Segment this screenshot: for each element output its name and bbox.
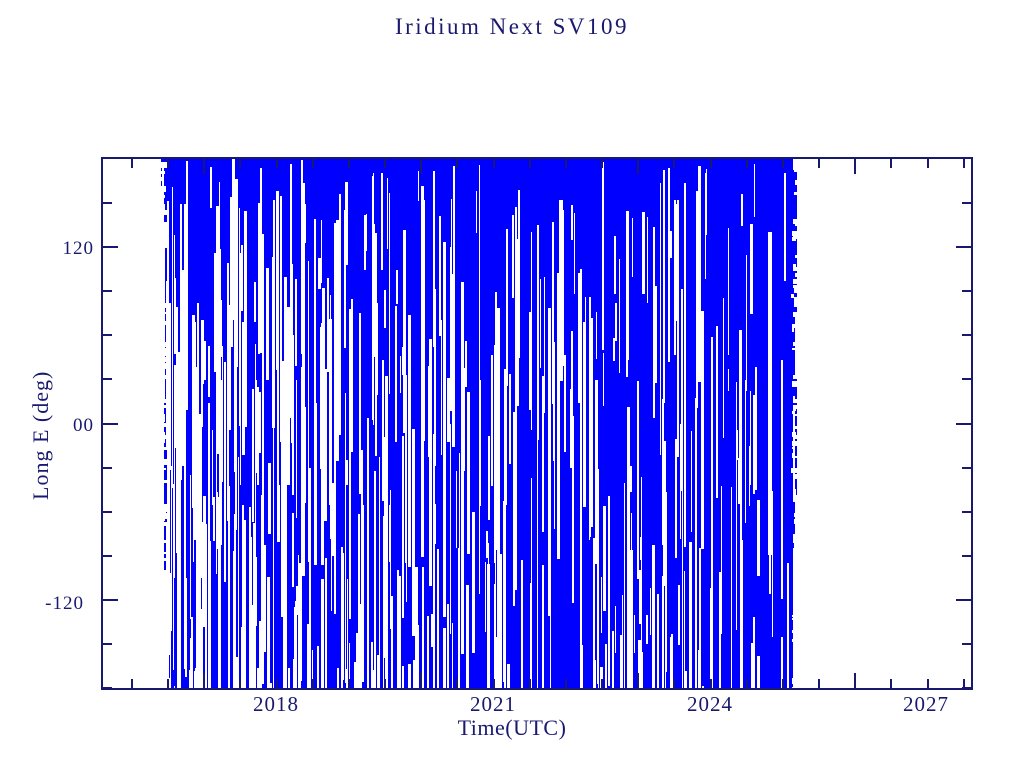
data-edge-notch-left [161, 336, 164, 339]
x-tick-2020 [348, 679, 350, 688]
data-gap-streak [701, 388, 704, 455]
data-edge-notch-left [161, 177, 165, 181]
data-gap-streak [542, 565, 543, 688]
data-edge-notch [794, 168, 798, 172]
y-tick-right-90 [962, 290, 971, 292]
chart-title: Iridium Next SV109 [0, 14, 1024, 40]
data-gap-streak [795, 315, 797, 376]
data-gap-streak [284, 602, 285, 682]
data-edge-notch-left [161, 678, 162, 683]
data-gap-streak [235, 179, 238, 367]
data-gap-streak [479, 380, 481, 506]
data-gap-streak [443, 628, 446, 688]
data-gap-streak [396, 270, 398, 304]
y-tick-right--30 [962, 467, 971, 469]
data-gap-streak [557, 273, 560, 508]
data-edge-notch-left [161, 225, 167, 227]
data-gap-streak [236, 657, 238, 688]
data-edge-notch [793, 474, 798, 479]
data-gap-streak [452, 274, 455, 447]
data-edge-notch [795, 222, 798, 226]
x-tick-2020.5 [384, 679, 386, 688]
data-gap-streak [383, 516, 384, 688]
data-gap-streak [364, 215, 366, 270]
data-gap-streak [702, 686, 704, 688]
y-tick-right--60 [962, 511, 971, 513]
data-gap-streak [746, 255, 747, 391]
data-edge-notch-left [161, 639, 163, 644]
x-tick-2026.5 [818, 679, 820, 688]
data-gap-column [602, 162, 604, 350]
data-gap-streak [324, 369, 327, 521]
data-edge-notch-left [161, 612, 166, 614]
data-gap-streak [504, 454, 506, 688]
data-gap-streak [781, 360, 783, 599]
data-gap-streak [218, 503, 220, 688]
data-edge-notch [795, 648, 799, 654]
data-gap-streak [288, 668, 289, 688]
data-gap-streak [204, 341, 206, 380]
data-gap-streak [222, 415, 224, 481]
data-edge-notch-left [161, 210, 167, 215]
data-gap-streak [603, 506, 606, 612]
data-gap-streak [308, 514, 309, 562]
data-gap-streak [339, 194, 341, 435]
data-gap-streak [229, 563, 230, 651]
data-gap-streak [772, 491, 773, 637]
x-tick-top-2027 [854, 159, 856, 174]
data-gap-streak [212, 430, 213, 505]
x-tick-top-2025.5 [746, 159, 748, 168]
x-tick-2019.5 [312, 679, 314, 688]
x-tick-2024.5 [673, 679, 675, 688]
data-gap-streak [250, 537, 252, 688]
x-tick-2023 [565, 679, 567, 688]
data-gap-streak [750, 391, 751, 485]
data-edge-notch [795, 426, 798, 429]
data-gap-streak [548, 308, 550, 553]
data-gap-streak [317, 646, 318, 688]
data-edge-notch-left [161, 366, 166, 369]
x-tick-2025 [710, 679, 712, 688]
data-edge-notch-left [161, 627, 164, 633]
data-gap-streak [601, 577, 602, 633]
data-gap-streak [412, 429, 415, 636]
data-gap-streak [613, 338, 615, 360]
data-gap-streak [361, 450, 363, 545]
data-gap-streak [408, 664, 411, 688]
data-gap-streak [298, 555, 299, 688]
data-gap-streak [238, 457, 239, 688]
data-gap-streak [308, 261, 310, 520]
data-edge-notch [794, 456, 800, 458]
data-edge-notch-left [161, 522, 168, 526]
data-gap-streak [295, 659, 296, 688]
data-gap-streak [402, 666, 403, 688]
data-gap-streak [347, 579, 348, 688]
data-gap-streak [731, 487, 732, 688]
data-gap-streak [507, 664, 510, 688]
data-gap-streak [321, 220, 322, 284]
data-gap-streak [684, 311, 687, 547]
data-gap-streak [392, 625, 393, 688]
data-gap-streak [429, 339, 432, 587]
data-gap-streak [757, 500, 760, 576]
x-tick-2018.5 [239, 679, 241, 688]
data-gap-streak [334, 223, 336, 455]
data-gap-streak [205, 524, 208, 688]
data-gap-streak [224, 362, 226, 582]
data-gap-streak [572, 416, 574, 604]
data-gap-streak [244, 211, 247, 425]
x-tick-label-2018: 2018 [216, 692, 336, 717]
data-gap-streak [405, 327, 406, 563]
data-gap-streak [537, 225, 538, 441]
data-gap-streak [335, 310, 338, 403]
x-tick-label-2021: 2021 [433, 692, 553, 717]
data-gap-streak [252, 389, 253, 522]
x-tick-top-2019 [276, 159, 278, 168]
data-gap-streak [321, 579, 324, 688]
data-gap-streak [630, 466, 632, 491]
data-gap-streak [268, 463, 271, 534]
data-gap-streak [384, 437, 387, 658]
data-edge-notch [795, 576, 798, 580]
data-gap-streak [431, 614, 434, 647]
x-tick-top-2025 [710, 159, 712, 168]
data-gap-streak [422, 567, 425, 688]
data-gap-streak [583, 322, 586, 507]
data-edge-notch [793, 498, 796, 502]
data-gap-streak [564, 355, 566, 452]
data-gap-streak [459, 453, 460, 688]
data-gap-streak [695, 398, 697, 589]
data-gap-streak [768, 491, 771, 528]
data-gap-streak [655, 286, 657, 384]
data-gap-streak [787, 563, 789, 688]
data-gap-streak [728, 228, 730, 356]
data-gap-streak [273, 393, 274, 477]
x-tick-label-2024: 2024 [650, 692, 770, 717]
y-tick-right--120 [956, 599, 971, 601]
data-edge-notch-left [161, 480, 168, 483]
data-gap-streak [241, 245, 244, 311]
data-gap-streak [373, 670, 376, 688]
data-gap-streak [375, 233, 377, 456]
data-gap-streak [331, 494, 332, 611]
data-gap-streak [214, 253, 217, 372]
x-tick-top-2023 [565, 159, 567, 168]
x-tick-top-2020 [348, 159, 350, 168]
data-edge-notch [793, 663, 795, 668]
data-gap-streak [437, 549, 439, 688]
data-gap-streak [741, 194, 743, 225]
data-gap-streak [318, 258, 321, 290]
y-tick-label-120: 120 [24, 238, 94, 260]
data-gap-streak [591, 318, 594, 527]
data-gap-streak [254, 624, 255, 648]
data-gap-streak [750, 224, 752, 315]
data-edge-notch-left [161, 231, 163, 234]
data-gap-streak [570, 389, 573, 468]
data-gap-streak [540, 279, 541, 368]
data-gap-streak [467, 392, 470, 554]
data-edge-notch-left [161, 606, 165, 609]
data-edge-notch [794, 591, 797, 594]
plot-area [101, 157, 973, 690]
data-edge-notch-left [161, 423, 166, 427]
data-edge-notch [794, 297, 800, 303]
data-gap-streak [662, 399, 664, 545]
data-edge-notch [794, 288, 797, 293]
y-tick-right-120 [956, 246, 971, 248]
data-edge-notch [793, 552, 795, 556]
data-gap-streak [291, 264, 292, 423]
x-tick-top-2021.5 [456, 159, 458, 168]
data-gap-streak [578, 273, 580, 403]
chart-figure: Iridium Next SV109 Long E (deg) Time(UTC… [0, 0, 1024, 768]
data-edge-notch [793, 267, 797, 271]
data-gap-streak [674, 200, 677, 355]
data-gap-streak [593, 660, 596, 688]
x-tick-2021.5 [456, 679, 458, 688]
data-gap-streak [753, 617, 756, 688]
data-edge-notch [795, 315, 797, 319]
data-gap-streak [652, 545, 655, 688]
data-gap-streak [379, 457, 380, 688]
data-gap-streak [314, 403, 317, 564]
data-gap-streak [439, 216, 441, 336]
data-gap-streak [685, 671, 687, 688]
data-gap-streak [345, 187, 347, 257]
data-gap-streak [757, 656, 760, 688]
data-gap-streak [194, 671, 195, 688]
data-edge-notch [795, 603, 798, 607]
x-tick-top-2018 [203, 159, 205, 174]
data-gap-streak [753, 395, 755, 494]
y-tick-right-30 [962, 378, 971, 380]
data-gap-streak [209, 541, 211, 688]
data-gap-streak [381, 173, 383, 270]
data-gap-streak [723, 298, 724, 438]
data-edge-notch [795, 180, 800, 185]
data-gap-streak [689, 542, 692, 688]
data-edge-notch-left [161, 669, 167, 674]
data-gap-streak [506, 229, 509, 386]
data-edge-notch [794, 414, 798, 416]
data-edge-notch [795, 360, 799, 365]
data-gap-streak [699, 548, 702, 688]
data-edge-notch [793, 558, 798, 563]
data-gap-streak [174, 686, 175, 688]
data-gap-streak [345, 393, 346, 453]
data-edge-notch-left [161, 438, 165, 443]
data-gap-streak [325, 558, 327, 688]
data-gap-streak [678, 585, 679, 644]
y-tick-right-60 [962, 334, 971, 336]
data-gap-streak [372, 176, 373, 420]
data-gap-streak [451, 199, 452, 285]
data-gap-streak [627, 550, 629, 688]
data-gap-streak [184, 517, 185, 669]
x-tick-top-2024.5 [673, 159, 675, 168]
data-gap-streak [736, 382, 737, 630]
data-gap-streak [366, 214, 367, 252]
data-edge-notch [795, 612, 801, 617]
data-edge-notch-left [161, 585, 167, 590]
data-edge-notch [792, 441, 798, 446]
data-gap-streak [710, 588, 713, 688]
data-gap-streak [675, 439, 677, 558]
data-gap-streak [749, 446, 750, 505]
x-tick-2028.5 [963, 679, 965, 688]
data-gap-streak [259, 658, 262, 688]
data-gap-streak [612, 631, 614, 688]
data-gap-streak [512, 215, 514, 298]
data-gap-streak [488, 543, 489, 688]
x-tick-2017 [131, 679, 133, 688]
data-gap-streak [740, 540, 742, 688]
x-axis-label: Time(UTC) [0, 715, 1024, 741]
data-gap-streak [631, 513, 632, 645]
y-tick-120 [103, 246, 118, 248]
data-edge-notch [792, 687, 797, 688]
data-gap-streak [389, 193, 390, 394]
data-gap-streak [448, 380, 450, 406]
data-edge-notch-left [161, 198, 164, 200]
data-edge-notch [795, 273, 800, 277]
data-gap-streak [755, 367, 757, 490]
data-edge-notch-left [161, 597, 163, 603]
data-gap-streak [402, 347, 405, 375]
data-gap-streak [500, 554, 502, 688]
y-tick-60 [103, 334, 112, 336]
data-edge-notch-left [161, 303, 168, 308]
data-gap-streak [637, 381, 639, 579]
x-tick-2021 [420, 673, 422, 688]
data-edge-notch [795, 336, 800, 341]
data-edge-notch-left [161, 399, 166, 403]
data-edge-notch [792, 639, 797, 642]
y-tick-label-m120: -120 [14, 593, 84, 615]
data-gap-streak [433, 171, 435, 346]
data-edge-notch [792, 327, 794, 332]
data-gap-streak [531, 478, 532, 688]
data-edge-notch-left [161, 453, 164, 457]
data-gap-streak [580, 269, 582, 440]
data-gap-streak [603, 353, 605, 407]
data-gap-streak [266, 268, 268, 379]
data-gap-streak [240, 383, 241, 485]
data-edge-notch-left [161, 648, 164, 652]
data-edge-notch-left [161, 330, 164, 335]
data-edge-notch-left [161, 516, 166, 521]
data-gap-streak [219, 182, 220, 312]
data-gap-streak [596, 312, 597, 359]
data-edge-notch [794, 303, 797, 307]
data-edge-notch-left [161, 345, 167, 347]
data-gap-streak [585, 297, 587, 322]
data-edge-notch [792, 618, 798, 620]
data-edge-notch-left [161, 321, 167, 325]
data-gap-streak [415, 567, 417, 688]
data-gap-streak [384, 290, 386, 328]
data-gap-streak [292, 513, 294, 588]
y-tick-right-0 [956, 423, 971, 425]
data-gap-streak [195, 322, 196, 515]
data-edge-notch [793, 342, 796, 346]
data-gap-streak [452, 623, 453, 688]
x-tick-2022 [493, 679, 495, 688]
data-gap-streak [634, 615, 636, 653]
data-gap-streak [571, 205, 573, 240]
x-tick-2027 [854, 673, 856, 688]
y-tick--150 [103, 643, 112, 645]
data-gap-streak [243, 591, 245, 688]
data-gap-streak [208, 439, 209, 558]
data-gap-streak [472, 512, 474, 653]
y-tick-30 [103, 378, 112, 380]
data-gap-streak [622, 595, 623, 688]
data-edge-notch [792, 447, 794, 449]
data-gap-streak [497, 510, 498, 688]
data-gap-streak [605, 644, 607, 688]
data-gap-streak [738, 458, 740, 504]
data-gap-streak [258, 203, 260, 354]
data-gap-streak [608, 496, 610, 687]
data-edge-notch-left [161, 240, 166, 243]
data-gap-streak [721, 486, 722, 635]
data-gap-streak [542, 376, 544, 531]
data-gap-streak [597, 428, 598, 684]
data-gap-streak [663, 170, 665, 403]
x-tick-top-2026.5 [818, 159, 820, 168]
data-edge-notch [793, 375, 797, 379]
data-gap-streak [349, 330, 352, 377]
data-edge-notch-left [161, 474, 164, 477]
x-tick-top-2017.5 [167, 159, 169, 168]
data-gap-column [367, 418, 368, 688]
data-gap-streak [276, 191, 278, 351]
data-gap-streak [434, 504, 436, 544]
x-tick-top-2019.5 [312, 159, 314, 168]
data-gap-streak [208, 346, 210, 396]
data-gap-streak [427, 616, 429, 688]
data-gap-streak [262, 315, 264, 408]
y-tick--120 [103, 599, 118, 601]
data-gap-streak [295, 601, 296, 641]
data-edge-notch [792, 237, 795, 241]
data-gap-streak [728, 369, 730, 391]
y-tick-right--90 [962, 555, 971, 557]
data-gap-streak [640, 537, 642, 560]
data-edge-notch [792, 348, 797, 350]
data-gap-streak [589, 297, 591, 537]
data-gap-streak [660, 183, 661, 417]
data-gap-streak [413, 660, 414, 688]
data-gap-streak [641, 652, 643, 688]
data-gap-streak [267, 577, 270, 688]
data-gap-streak [287, 307, 289, 485]
data-gap-streak [706, 169, 707, 235]
data-edge-notch [795, 435, 799, 439]
data-gap-streak [301, 367, 302, 562]
data-gap-streak [390, 510, 391, 630]
data-gap-streak [305, 204, 306, 244]
y-tick--180 [103, 687, 112, 689]
data-gap-streak [456, 471, 458, 548]
x-tick-2024 [637, 673, 639, 688]
